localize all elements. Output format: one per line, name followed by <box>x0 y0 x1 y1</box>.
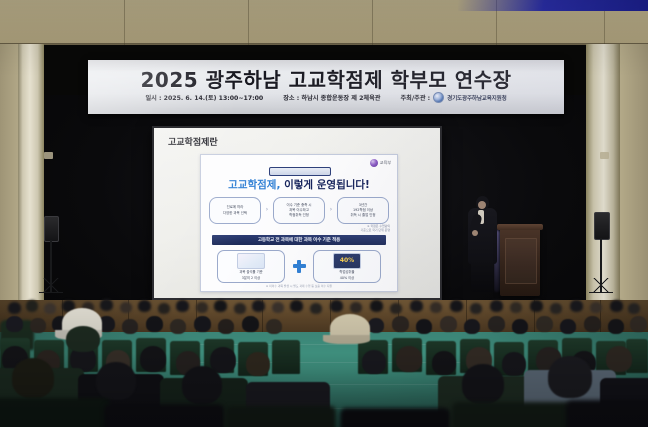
slide-title: 고교학점제란 <box>168 135 218 148</box>
left-outer-wall <box>0 44 20 320</box>
loudspeaker-icon <box>594 212 610 240</box>
ministry-logo: 교육부 <box>370 159 391 167</box>
loudspeaker-icon <box>44 216 59 242</box>
banner-date: 일시 : 2025. 6. 14.(토) 13:00~17:00 <box>145 93 263 102</box>
ministry-name: 교육부 <box>380 160 391 166</box>
flow-step-line: 3년간 <box>359 203 367 207</box>
projection-screen: 고교학점제란 교육부 고교학점제, 이렇게 운영됩니다! 진로에 따라 다양한 … <box>152 126 442 300</box>
slide-heading: 고교학점제, 이렇게 운영됩니다! <box>201 177 397 192</box>
flow-step-line: 과목 이수하고 <box>289 208 309 212</box>
banner-place: 장소 : 하남시 종합운동장 제 2체육관 <box>283 93 380 102</box>
plus-icon <box>293 260 306 273</box>
host-org-name: 경기도광주하남교육지원청 <box>447 94 506 102</box>
flow-step-line: 학점취득 인정 <box>289 213 309 217</box>
criteria-box: 40% 학업성취율 40% 이상 <box>313 250 381 283</box>
heading-rest: 이렇게 운영됩니다! <box>280 179 369 191</box>
criteria-pair: 과목 출석률 기준 3분의 2 이상 40% 학업성취율 40% 이상 <box>217 249 381 283</box>
criteria-caption: 학업성취율 <box>339 270 354 274</box>
arrow-right-icon: › <box>264 207 271 213</box>
upper-wall <box>0 0 648 47</box>
wall-lamp-icon <box>44 152 53 159</box>
navy-banner-label: 고등학교 전 과목에 대한 과목 이수 기준 적용 <box>258 237 340 243</box>
criteria-box: 과목 출석률 기준 3분의 2 이상 <box>217 250 285 283</box>
ministry-of-education-logo-icon <box>370 159 378 167</box>
achievement-value: 40% <box>340 258 354 264</box>
banner-subtitle: 일시 : 2025. 6. 14.(토) 13:00~17:00 장소 : 하남… <box>88 92 564 103</box>
navy-banner-bar: 고등학교 전 과목에 대한 과목 이수 기준 적용 <box>212 235 386 245</box>
flow-step: 이수 기준 충족 시 과목 이수하고 학점취득 인정 <box>273 197 325 224</box>
flow-step-line: 192학점 이상 <box>353 208 373 212</box>
flow-step-line: 진로에 따라 <box>227 205 244 209</box>
event-banner: 2025 광주하남 고교학점제 학부모 연수장 일시 : 2025. 6. 14… <box>88 60 564 114</box>
card-top-tab <box>269 167 331 176</box>
flow-note-line: 기준으로 학기 단위 운영 <box>361 229 390 233</box>
criteria-caption: 40% 이상 <box>340 276 354 280</box>
host-label: 주최/주관 : <box>400 93 430 102</box>
blue-wall-accent <box>458 0 648 11</box>
bucket-hat <box>330 314 370 342</box>
slide-content-card: 교육부 고교학점제, 이렇게 운영됩니다! 진로에 따라 다양한 과목 선택 ›… <box>200 154 398 292</box>
banner-host: 주최/주관 : 경기도광주하남교육지원청 <box>400 92 506 103</box>
flow-step-line: 취득 시 졸업 인정 <box>350 213 375 217</box>
banner-title: 2025 광주하남 고교학점제 학부모 연수장 <box>88 64 564 93</box>
criteria-caption: 3분의 2 이상 <box>242 276 260 280</box>
heading-highlight: 고교학점제, <box>228 179 280 191</box>
circular-emblem-icon <box>433 92 444 103</box>
flow-diagram: 진로에 따라 다양한 과목 선택 › 이수 기준 충족 시 과목 이수하고 학점… <box>209 195 389 225</box>
bar-chart-board-icon: 40% <box>333 253 361 269</box>
audience-seating <box>0 286 648 427</box>
flow-step-line: 이수 기준 충족 시 <box>286 203 311 207</box>
flow-step: 3년간 192학점 이상 취득 시 졸업 인정 <box>337 197 389 224</box>
right-outer-wall <box>620 44 648 320</box>
flow-step-line: 다양한 과목 선택 <box>223 211 247 215</box>
arrow-right-icon: › <box>328 207 335 213</box>
presenter-speaker <box>466 196 500 292</box>
auditorium-photo-scene: 2025 광주하남 고교학점제 학부모 연수장 일시 : 2025. 6. 14… <box>0 0 648 427</box>
flow-step: 진로에 따라 다양한 과목 선택 <box>209 197 261 224</box>
flow-note: ※ 학점은 수업량의 기준으로 학기 단위 운영 <box>361 225 390 233</box>
banner-shadow <box>88 114 564 120</box>
wall-lamp-icon <box>600 152 609 159</box>
document-pencil-icon <box>237 253 265 269</box>
criteria-caption: 과목 출석률 기준 <box>239 270 262 274</box>
